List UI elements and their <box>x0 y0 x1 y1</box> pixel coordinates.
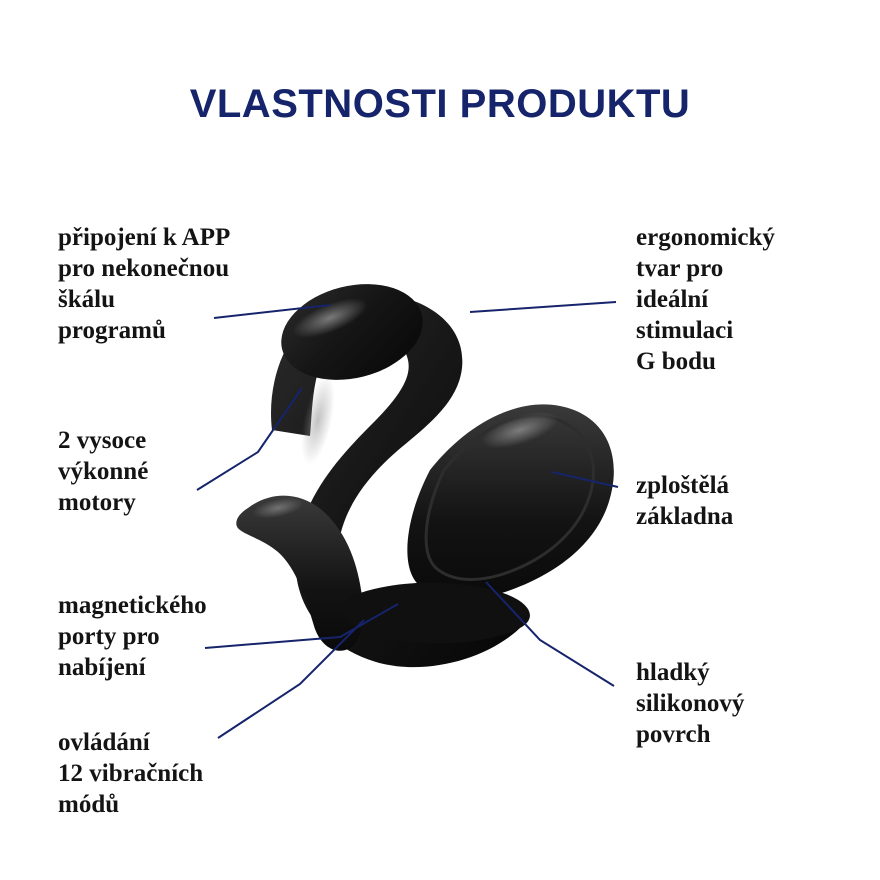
feature-label-base: zploštělá základna <box>636 470 846 532</box>
feature-label-ports: magnetického porty pro nabíjení <box>58 590 308 683</box>
feature-label-surface: hladký silikonový povrch <box>636 657 856 750</box>
feature-label-app: připojení k APP pro nekonečnou škálu pro… <box>58 222 318 346</box>
product-features-diagram: VLASTNOSTI PRODUKTU <box>0 0 880 880</box>
feature-label-ergonomic: ergonomický tvar pro ideální stimulaci G… <box>636 222 866 377</box>
feature-label-modes: ovládání 12 vibračních módů <box>58 727 298 820</box>
feature-label-motors: 2 vysoce výkonné motory <box>58 425 288 518</box>
